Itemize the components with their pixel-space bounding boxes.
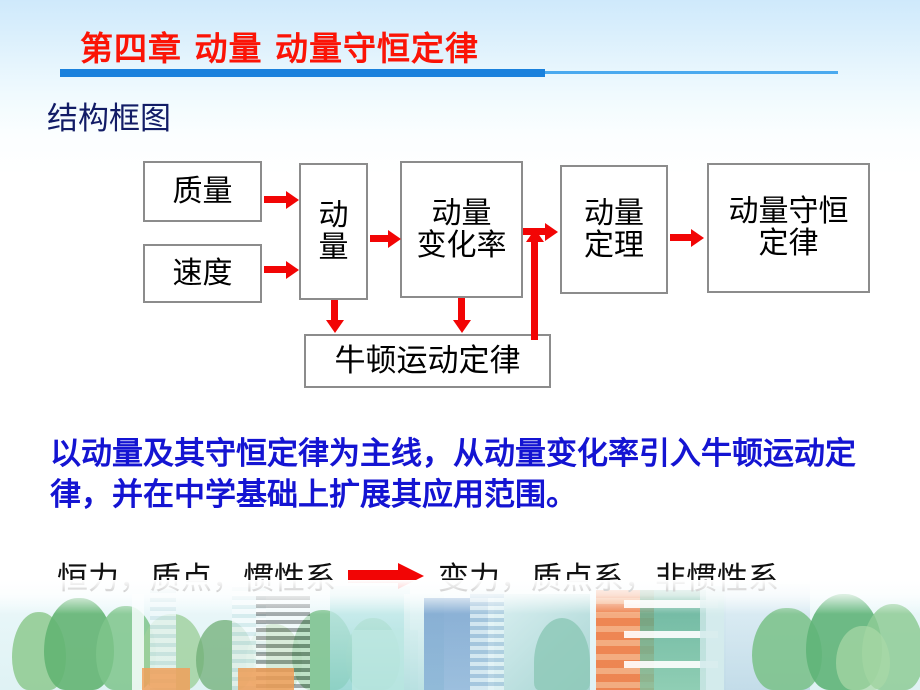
arrowhead-right-icon [545, 223, 558, 241]
summary-paragraph: 以动量及其守恒定律为主线，从动量变化率引入牛顿运动定律，并在中学基础上扩展其应用… [50, 434, 895, 516]
node-newton-laws[interactable]: 牛顿运动定律 [304, 334, 551, 388]
edge-mass-to-momentum [264, 196, 288, 203]
arrowhead-right-icon [388, 230, 401, 248]
arrowhead-down-icon [453, 320, 471, 333]
edge-rate-to-newton [458, 298, 465, 322]
brick-base-shape [238, 668, 294, 690]
edge-newton-to-impulse-riser [531, 240, 538, 340]
node-momentum-label: 动 量 [319, 200, 349, 264]
edge-rate-to-impulse [523, 228, 547, 235]
node-mass-label: 质量 [173, 176, 233, 208]
node-velocity[interactable]: 速度 [143, 244, 262, 303]
node-velocity-label: 速度 [173, 258, 233, 290]
node-conservation[interactable]: 动量守恒 定律 [707, 163, 870, 293]
node-rate-of-change[interactable]: 动量 变化率 [400, 161, 523, 298]
edge-momentum-to-rate [370, 235, 390, 242]
node-conservation-label: 动量守恒 定律 [729, 196, 849, 260]
slide-canvas: 第四章 动量 动量守恒定律 结构框图 质量 速度 动 量 动量 变化率 牛顿运动… [0, 0, 920, 690]
arrowhead-right-icon [691, 229, 704, 247]
node-impulse-theorem[interactable]: 动量 定理 [560, 165, 668, 294]
node-newton-laws-label: 牛顿运动定律 [335, 345, 521, 378]
edge-impulse-to-conservation [670, 234, 693, 241]
structure-flow-diagram: 质量 速度 动 量 动量 变化率 牛顿运动定律 动量 定理 动量守恒 定律 [0, 0, 920, 420]
tree-shape [836, 626, 890, 690]
edge-velocity-to-momentum [264, 266, 288, 273]
node-momentum[interactable]: 动 量 [299, 163, 368, 300]
node-mass[interactable]: 质量 [143, 161, 262, 222]
arrowhead-right-icon [286, 261, 299, 279]
node-rate-of-change-label: 动量 变化率 [417, 198, 507, 262]
node-impulse-theorem-label: 动量 定理 [584, 198, 644, 262]
brick-base-shape [142, 668, 190, 690]
arrowhead-down-icon [326, 320, 344, 333]
campus-photo-band [0, 580, 920, 690]
edge-momentum-to-newton [331, 300, 338, 322]
arrowhead-right-icon [286, 191, 299, 209]
photo-top-fade [0, 580, 920, 614]
